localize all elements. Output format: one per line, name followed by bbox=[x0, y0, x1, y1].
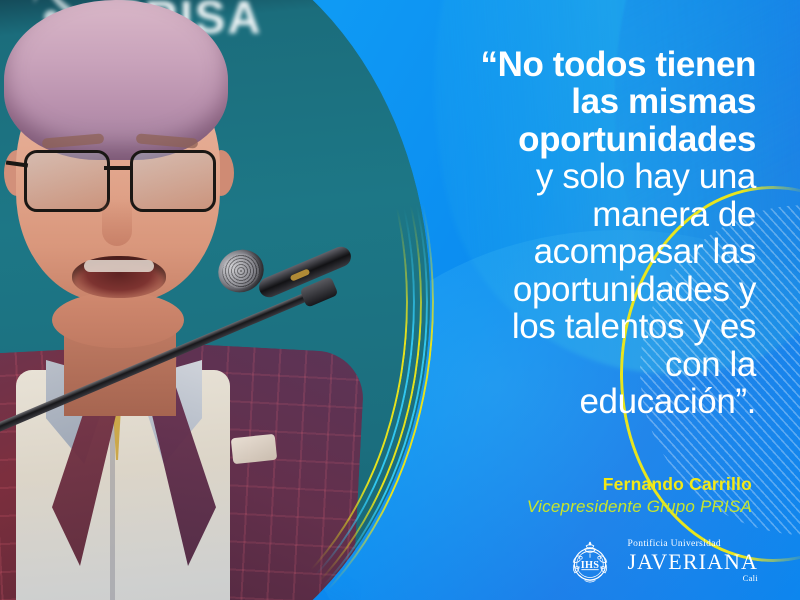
photo-circle-mask: PRISA y OEI PRESENTAN bbox=[0, 0, 430, 600]
nose bbox=[102, 198, 132, 246]
attribution: Fernando Carrillo Vicepresidente Grupo P… bbox=[412, 474, 752, 517]
speaker-photo: PRISA y OEI PRESENTAN bbox=[0, 0, 460, 600]
attribution-name: Fernando Carrillo bbox=[412, 474, 752, 495]
quote-line: oportunidades bbox=[440, 121, 756, 158]
backdrop-conjunction-text: y bbox=[390, 0, 405, 28]
quote-line: oportunidades y bbox=[440, 271, 756, 308]
quote-line: educación”. bbox=[440, 383, 756, 420]
quote-card: PRISA y OEI PRESENTAN bbox=[0, 0, 800, 600]
attribution-role: Vicepresidente Grupo PRISA bbox=[412, 497, 752, 517]
logo-line-pontificia: Pontificia Universidad bbox=[627, 540, 758, 550]
javeriana-crest-icon: IHS bbox=[563, 534, 617, 588]
javeriana-wordmark: Pontificia Universidad JAVERIANA Cali bbox=[627, 540, 758, 583]
logo-line-cali: Cali bbox=[627, 574, 758, 583]
quote-text: “No todos tienen las mismas oportunidade… bbox=[440, 46, 756, 420]
quote-line: acompasar las bbox=[440, 233, 756, 270]
quote-line: manera de bbox=[440, 196, 756, 233]
quote-line: los talentos y es bbox=[440, 308, 756, 345]
quote-line: y solo hay una bbox=[440, 158, 756, 195]
quote-line: con la bbox=[440, 346, 756, 383]
mouth bbox=[72, 256, 166, 298]
javeriana-logo: IHS Pontificia Universidad JAVERIANA Cal… bbox=[563, 534, 758, 588]
quote-line: “No todos tienen bbox=[440, 46, 756, 83]
photo-content: PRISA y OEI PRESENTAN bbox=[0, 0, 430, 600]
quote-line: las mismas bbox=[440, 83, 756, 120]
pocket-square bbox=[231, 434, 277, 464]
chin bbox=[52, 292, 184, 348]
speaker-figure bbox=[0, 0, 340, 600]
backdrop-subline-text: PRESENTAN bbox=[378, 52, 430, 79]
hair bbox=[4, 0, 228, 160]
logo-line-javeriana: JAVERIANA bbox=[627, 551, 758, 573]
